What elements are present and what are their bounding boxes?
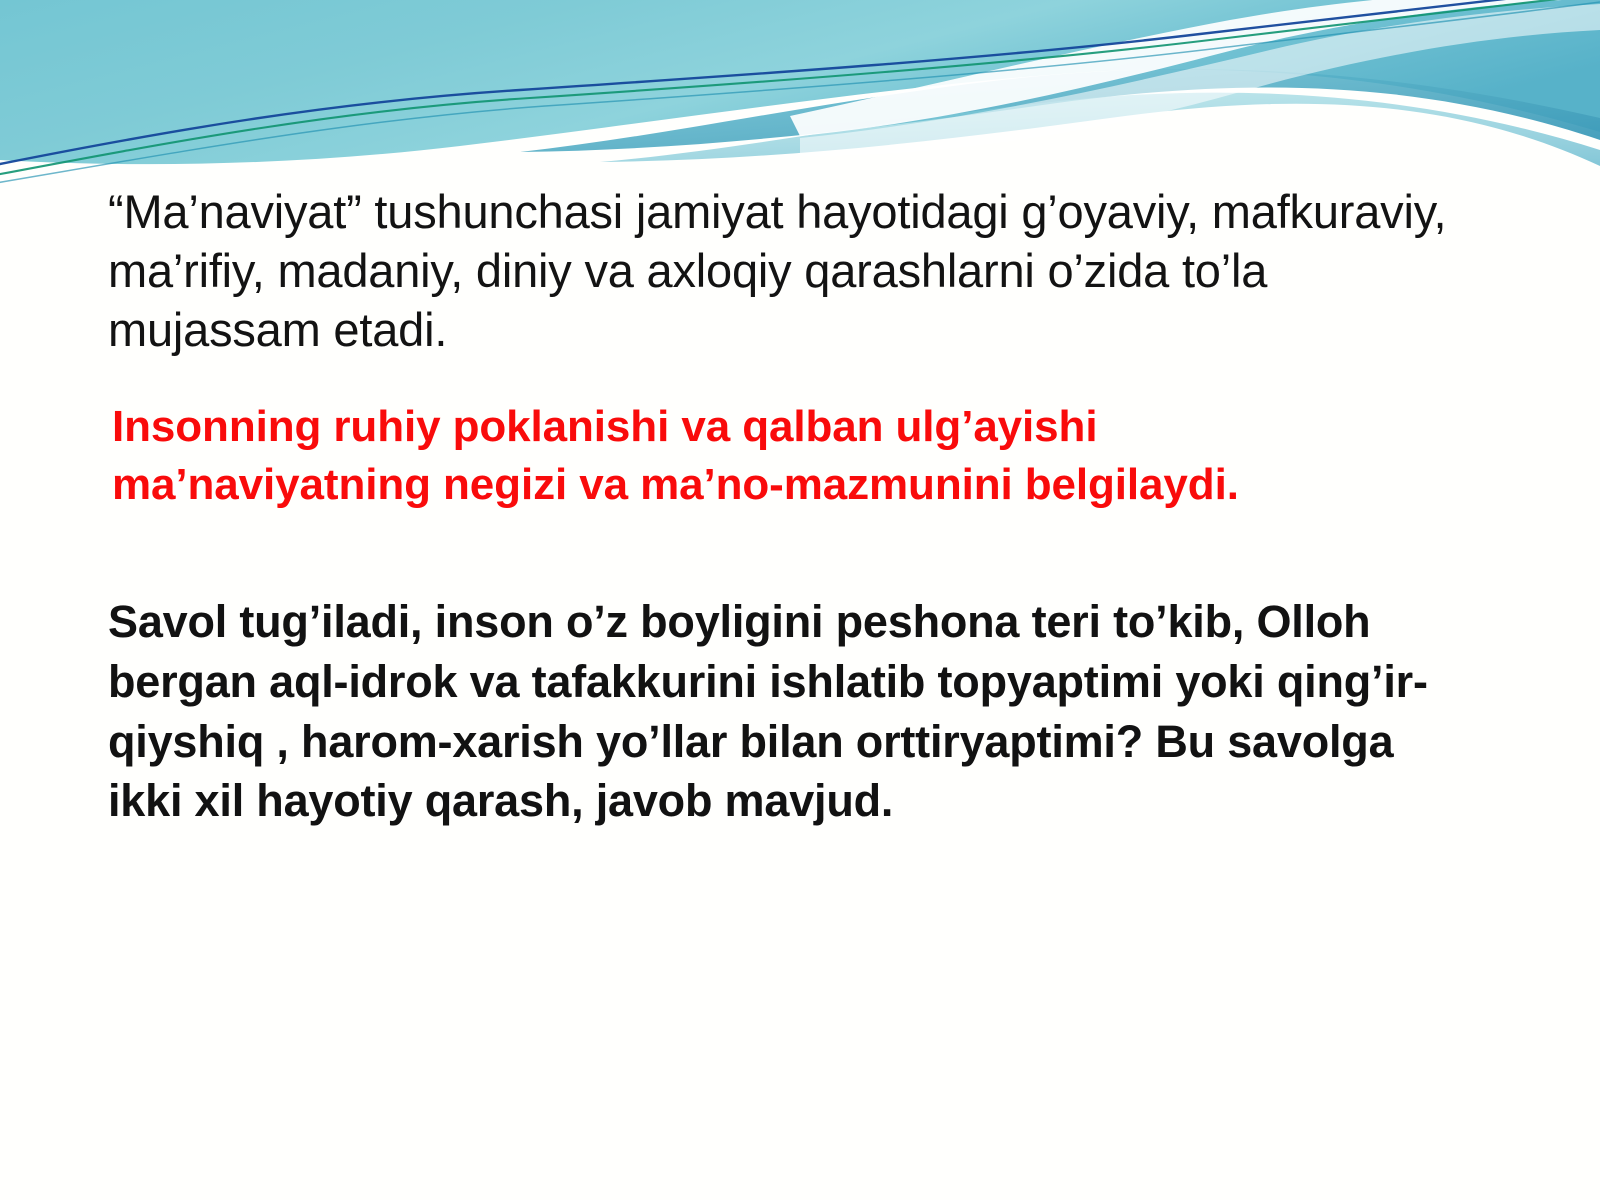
accent-line-green [0,0,1600,176]
white-swoosh-lower [800,4,1600,156]
paragraph-highlight: Insonning ruhiy poklanishi va qalban ulg… [108,398,1322,514]
wave-band-tertiary [600,93,1600,166]
slide-body: “Ma’naviyat” tushunchasi jamiyat hayotid… [0,182,1600,831]
paragraph-question: Savol tug’iladi, inson o’z boyligini pes… [108,592,1478,831]
paragraph-intro: “Ma’naviyat” tushunchasi jamiyat hayotid… [108,182,1453,360]
wave-band-primary [0,0,1600,164]
white-swoosh-upper [790,0,1600,136]
accent-line-navy [0,0,1600,166]
accent-line-teal [0,2,1600,184]
presentation-slide: “Ma’naviyat” tushunchasi jamiyat hayotid… [0,0,1600,1200]
wave-band-secondary [520,69,1600,152]
